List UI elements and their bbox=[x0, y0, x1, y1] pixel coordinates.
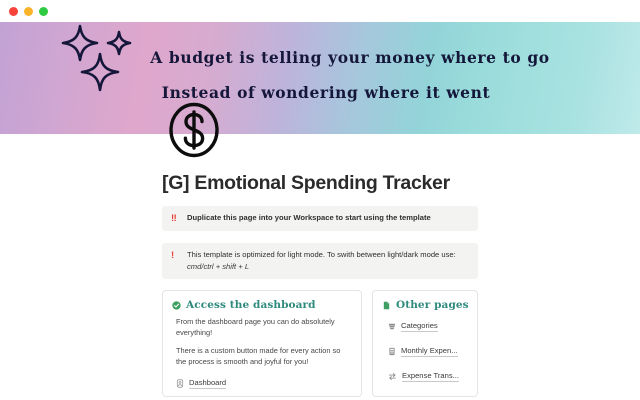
page-body: [G] Emotional Spending Tracker ‼ Duplica… bbox=[0, 134, 640, 400]
callout-text: This template is optimized for light mod… bbox=[187, 250, 456, 259]
page-content-column: [G] Emotional Spending Tracker ‼ Duplica… bbox=[162, 134, 478, 400]
callout-duplicate-template[interactable]: ‼ Duplicate this page into your Workspac… bbox=[162, 206, 478, 231]
page-link-label: Monthly Expen... bbox=[401, 345, 458, 357]
traffic-light-controls bbox=[9, 7, 48, 16]
page-cover-banner[interactable]: A budget is telling your money where to … bbox=[0, 22, 640, 134]
window-titlebar bbox=[0, 0, 640, 22]
card-header: Other pages bbox=[382, 299, 468, 311]
card-title: Other pages bbox=[396, 299, 469, 311]
cards-row: Access the dashboard From the dashboard … bbox=[162, 290, 478, 397]
callout-text-group: This template is optimized for light mod… bbox=[187, 249, 470, 273]
page-link-dashboard[interactable]: Dashboard bbox=[172, 377, 352, 389]
callout-shortcut: cmd/ctrl + shift + L bbox=[187, 261, 470, 273]
exclamation-icon: ! bbox=[170, 249, 187, 262]
app-window: A budget is telling your money where to … bbox=[0, 0, 640, 400]
card-other-pages[interactable]: Other pages Categories bbox=[372, 290, 478, 397]
dollar-coin-icon bbox=[166, 102, 222, 158]
dashboard-page-icon bbox=[176, 379, 184, 388]
categories-page-icon bbox=[388, 322, 396, 331]
monthly-expenses-page-icon bbox=[388, 347, 396, 356]
banner-quote-line-1: A budget is telling your money where to … bbox=[0, 48, 640, 67]
card-title: Access the dashboard bbox=[186, 299, 316, 311]
green-check-circle-icon bbox=[172, 301, 181, 310]
minimize-window-button[interactable] bbox=[24, 7, 33, 16]
page-link-label: Expense Trans... bbox=[402, 370, 459, 382]
card-header: Access the dashboard bbox=[172, 299, 352, 311]
page-link-expense-transactions[interactable]: Expense Trans... bbox=[388, 370, 468, 382]
page-document-icon bbox=[382, 301, 391, 310]
card-access-the-dashboard[interactable]: Access the dashboard From the dashboard … bbox=[162, 290, 362, 397]
banner-quote: A budget is telling your money where to … bbox=[0, 22, 640, 134]
banner-quote-line-2: Instead of wondering where it went bbox=[0, 83, 640, 102]
page-link-categories[interactable]: Categories bbox=[388, 320, 468, 332]
callout-text: Duplicate this page into your Workspace … bbox=[187, 212, 470, 224]
callout-light-mode-tip[interactable]: ! This template is optimized for light m… bbox=[162, 243, 478, 279]
zoom-window-button[interactable] bbox=[39, 7, 48, 16]
close-window-button[interactable] bbox=[9, 7, 18, 16]
other-pages-list: Categories Monthly Expen... bbox=[382, 320, 468, 382]
page-link-monthly-expenses[interactable]: Monthly Expen... bbox=[388, 345, 468, 357]
card-paragraph: From the dashboard page you can do absol… bbox=[172, 316, 352, 338]
double-exclamation-icon: ‼ bbox=[170, 212, 187, 225]
page-link-label: Categories bbox=[401, 320, 438, 332]
expense-transactions-page-icon bbox=[388, 372, 397, 381]
page-link-label: Dashboard bbox=[189, 377, 226, 389]
card-paragraph: There is a custom button made for every … bbox=[172, 345, 352, 367]
